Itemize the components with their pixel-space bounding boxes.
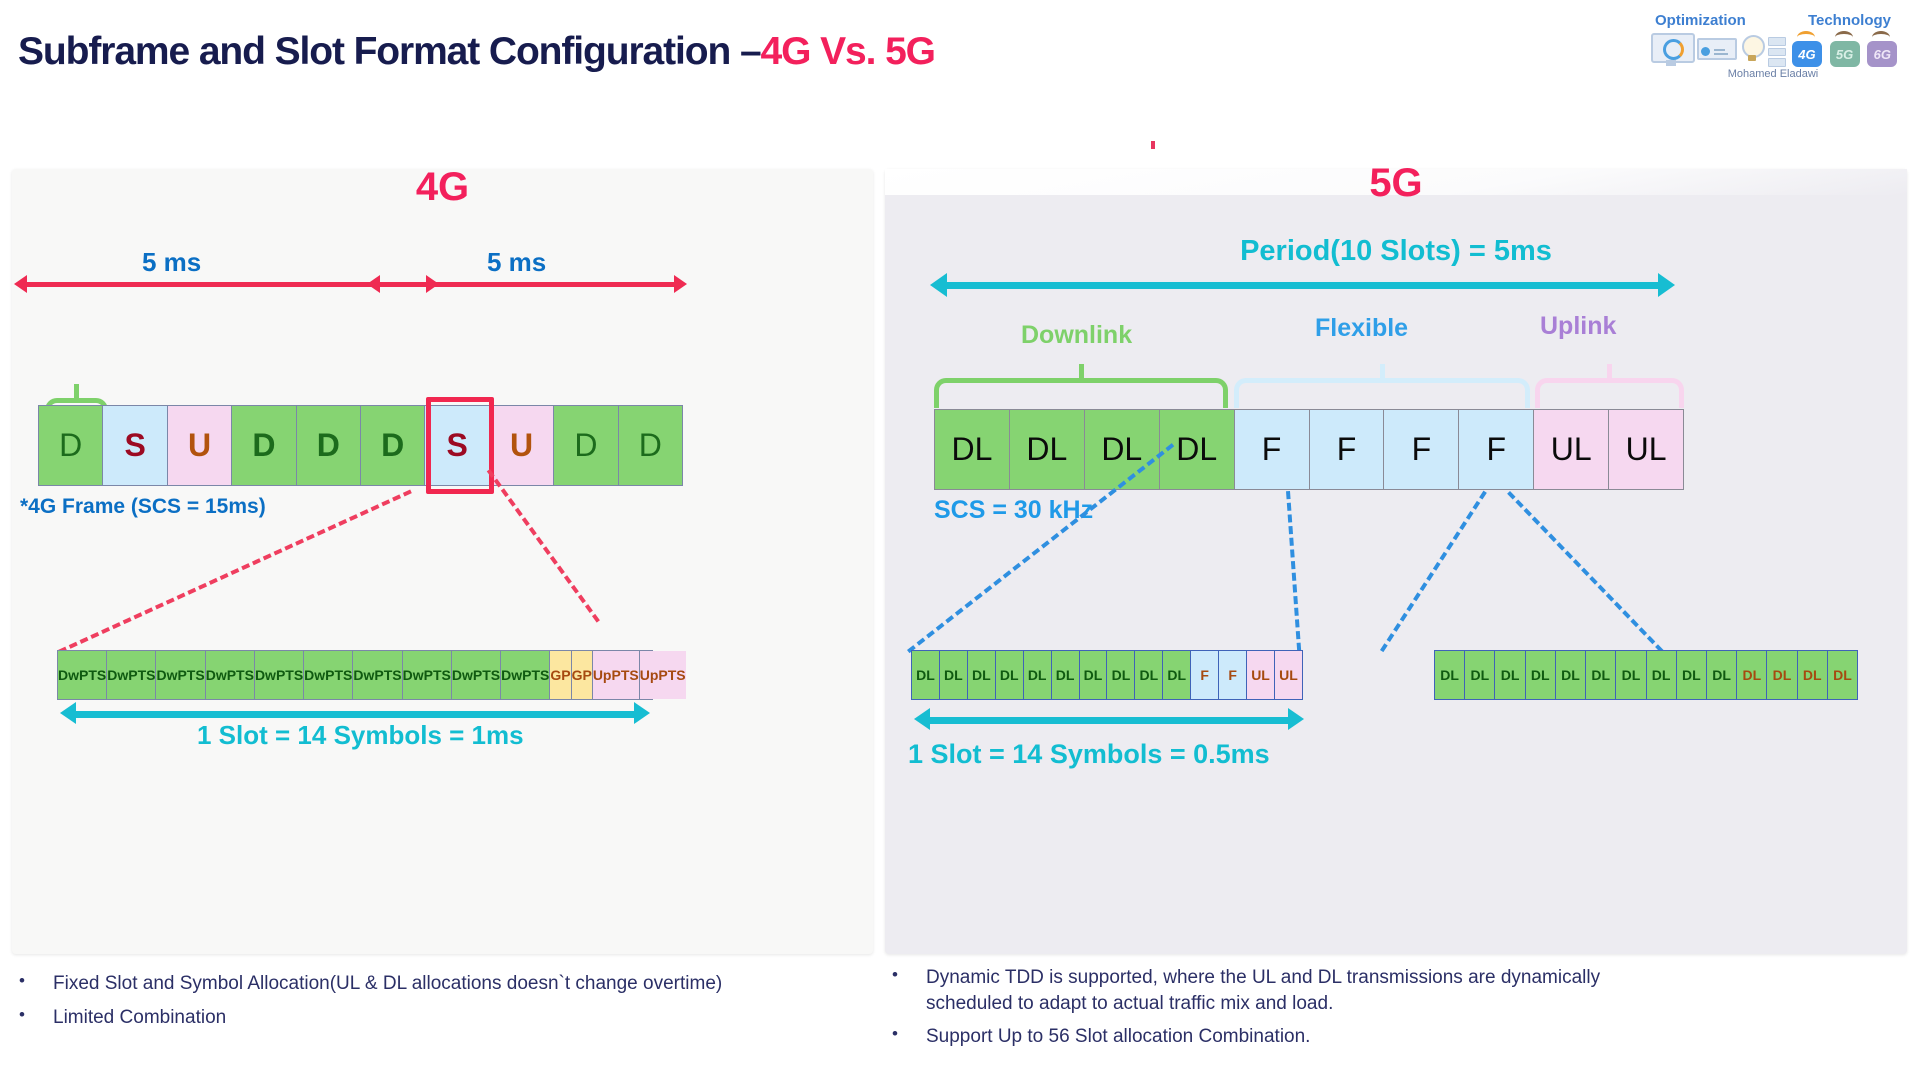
symbol-label: UpPTS <box>593 667 639 683</box>
slot-cell[interactable]: DL <box>1085 410 1160 489</box>
symbol-label: DL <box>1773 667 1792 683</box>
bullet-item: •Dynamic TDD is supported, where the UL … <box>885 965 1900 1016</box>
symbol-cell[interactable]: DwPTS <box>107 651 156 699</box>
panel-5g-title: 5G <box>885 161 1907 206</box>
symbol-label: DwPTS <box>353 667 401 683</box>
slot-label: F <box>1337 431 1357 468</box>
symbol-cell[interactable]: DwPTS <box>501 651 550 699</box>
brace-flexible <box>1234 378 1530 408</box>
symbol-label: DL <box>1622 667 1641 683</box>
symbol-label: DwPTS <box>58 667 106 683</box>
symbol-cell[interactable]: DL <box>940 651 968 699</box>
symbol-label: UpPTS <box>640 667 686 683</box>
label-flexible: Flexible <box>1315 314 1408 343</box>
caption-4g-frame: *4G Frame (SCS = 15ms) <box>20 495 266 519</box>
page-title-main: Subframe and Slot Format Configuration – <box>18 30 761 73</box>
symbol-label: DwPTS <box>156 667 204 683</box>
symbol-label: DL <box>1833 667 1852 683</box>
symbol-cell[interactable]: DL <box>996 651 1024 699</box>
symbol-cell[interactable]: DL <box>1526 651 1556 699</box>
symbol-label: DwPTS <box>403 667 451 683</box>
subframe-label: D <box>381 427 404 464</box>
subframe-cell[interactable]: S <box>103 406 167 485</box>
symbol-label: DL <box>1112 667 1131 683</box>
symbol-cell[interactable]: DwPTS <box>304 651 353 699</box>
symbol-cell[interactable]: DwPTS <box>58 651 107 699</box>
arrow-slot-5g <box>914 717 1304 724</box>
caption-scs-5g: SCS = 30 kHz <box>934 496 1093 525</box>
subframe-row-4g: D S U D D D S U D D <box>38 405 683 486</box>
badge-6g-icon: 6G <box>1865 31 1899 67</box>
subframe-label: U <box>510 427 533 464</box>
symbol-label: DL <box>1652 667 1671 683</box>
bullet-marker: • <box>12 1005 53 1031</box>
symbol-cell[interactable]: DwPTS <box>206 651 255 699</box>
symbol-cell[interactable]: DL <box>1495 651 1525 699</box>
bullets-4g: •Fixed Slot and Symbol Allocation(UL & D… <box>12 971 872 1038</box>
server-stack-icon <box>1768 37 1786 67</box>
symbol-label: F <box>1200 667 1209 683</box>
slot-label: DL <box>1101 431 1142 468</box>
subframe-label: D <box>59 427 82 464</box>
bullet-marker: • <box>885 965 926 1016</box>
symbol-cell[interactable]: DL <box>1465 651 1495 699</box>
panel-4g-title: 4G <box>12 165 873 210</box>
slot-label: UL <box>1551 431 1592 468</box>
slot-label: F <box>1487 431 1507 468</box>
symbol-cell[interactable]: DL <box>1737 651 1767 699</box>
symbol-row-5g-left: DL DL DL DL DL DL DL DL DL DL F F UL UL <box>911 650 1303 700</box>
arrow-slot-4g <box>60 711 650 718</box>
arrow-5ms-right <box>367 282 687 287</box>
slide-root: Subframe and Slot Format Configuration –… <box>0 0 1919 1070</box>
symbol-cell[interactable]: DwPTS <box>452 651 501 699</box>
symbol-cell[interactable]: DL <box>1616 651 1646 699</box>
bullet-text: Fixed Slot and Symbol Allocation(UL & DL… <box>53 971 722 997</box>
symbol-label: DL <box>1000 667 1019 683</box>
symbol-label: DL <box>1591 667 1610 683</box>
subframe-cell[interactable]: D <box>232 406 296 485</box>
page-title: Subframe and Slot Format Configuration –… <box>18 30 935 74</box>
highlight-box-s-subframe <box>426 397 494 494</box>
caption-slot-5g: 1 Slot = 14 Symbols = 0.5ms <box>908 739 1270 770</box>
symbol-cell[interactable]: GP <box>550 651 571 699</box>
subframe-cell[interactable]: D <box>619 406 682 485</box>
symbol-label: DL <box>1682 667 1701 683</box>
brace-uplink <box>1535 378 1684 408</box>
symbol-cell[interactable]: GP <box>572 651 593 699</box>
slot-row-5g: DL DL DL DL F F F F UL UL <box>934 409 1684 490</box>
subframe-label: U <box>188 427 211 464</box>
subframe-label: D <box>317 427 340 464</box>
slot-label: DL <box>952 431 993 468</box>
slot-label: DL <box>1026 431 1067 468</box>
symbol-cell[interactable]: DL <box>1435 651 1465 699</box>
symbol-label: DL <box>916 667 935 683</box>
bullet-marker: • <box>885 1024 926 1050</box>
symbol-cell[interactable]: DL <box>1707 651 1737 699</box>
bullet-marker: • <box>12 971 53 997</box>
subframe-label: S <box>124 427 145 464</box>
bullet-item: •Support Up to 56 Slot allocation Combin… <box>885 1024 1900 1050</box>
panel-5g: 5G Period(10 Slots) = 5ms Downlink Flexi… <box>885 169 1907 954</box>
slot-cell[interactable]: UL <box>1534 410 1609 489</box>
label-downlink: Downlink <box>1021 321 1132 350</box>
symbol-cell[interactable]: DL <box>1052 651 1080 699</box>
symbol-cell[interactable]: UL <box>1247 651 1275 699</box>
subframe-label: D <box>574 427 597 464</box>
panel-4g: 4G 5 ms 5 ms D S U D D D S U D D <box>12 169 873 954</box>
symbol-row-5g-right: DL DL DL DL DL DL DL DL DL DL DL DL DL D… <box>1434 650 1858 700</box>
slot-cell[interactable]: DL <box>1160 410 1235 489</box>
symbol-label: DL <box>1084 667 1103 683</box>
symbol-cell[interactable]: DL <box>1556 651 1586 699</box>
symbol-label: DL <box>944 667 963 683</box>
symbol-cell[interactable]: UpPTS <box>593 651 640 699</box>
badge-5g-icon: 5G <box>1828 31 1862 67</box>
decorative-dot <box>1151 141 1155 149</box>
badge-5g-label: 5G <box>1830 41 1860 67</box>
symbol-cell[interactable]: DL <box>1163 651 1191 699</box>
symbol-label: DL <box>1028 667 1047 683</box>
symbol-label: DwPTS <box>452 667 500 683</box>
author-name: Mohamed Eladawi <box>1647 68 1899 80</box>
subframe-cell[interactable]: D <box>297 406 361 485</box>
lightbulb-icon <box>1740 35 1764 67</box>
slot-label: F <box>1262 431 1282 468</box>
brand-logo: Optimization Technology 4G 5G 6G Mohamed… <box>1647 12 1899 94</box>
symbol-label: DL <box>1167 667 1186 683</box>
slot-label: UL <box>1626 431 1667 468</box>
arrow-period-5g <box>930 282 1675 289</box>
symbol-label: UL <box>1279 667 1298 683</box>
slot-cell[interactable]: F <box>1235 410 1310 489</box>
symbol-cell[interactable]: F <box>1191 651 1219 699</box>
symbol-label: DL <box>1803 667 1822 683</box>
slot-cell[interactable]: F <box>1459 410 1534 489</box>
slot-cell[interactable]: UL <box>1609 410 1683 489</box>
bullets-5g: •Dynamic TDD is supported, where the UL … <box>885 965 1900 1058</box>
slot-label: DL <box>1176 431 1217 468</box>
symbol-label: DL <box>1742 667 1761 683</box>
symbol-label: DwPTS <box>501 667 549 683</box>
subframe-label: D <box>639 427 662 464</box>
symbol-label: DwPTS <box>107 667 155 683</box>
slot-cell[interactable]: F <box>1384 410 1459 489</box>
bullet-text: Dynamic TDD is supported, where the UL a… <box>926 965 1666 1016</box>
symbol-cell[interactable]: DwPTS <box>403 651 452 699</box>
brace-downlink <box>934 378 1228 408</box>
bullet-item: •Fixed Slot and Symbol Allocation(UL & D… <box>12 971 872 997</box>
slot-cell[interactable]: F <box>1310 410 1385 489</box>
symbol-label: F <box>1228 667 1237 683</box>
label-period-5g: Period(10 Slots) = 5ms <box>885 235 1907 268</box>
symbol-cell[interactable]: DL <box>1677 651 1707 699</box>
symbol-label: DwPTS <box>255 667 303 683</box>
logo-word-optimization: Optimization <box>1655 12 1746 29</box>
bullet-text: Support Up to 56 Slot allocation Combina… <box>926 1024 1310 1050</box>
logo-word-technology: Technology <box>1808 12 1891 29</box>
symbol-cell[interactable]: UL <box>1275 651 1302 699</box>
symbol-label: DL <box>1531 667 1550 683</box>
zoom-line-5g-b <box>1286 491 1301 651</box>
badge-6g-label: 6G <box>1867 41 1897 67</box>
zoom-line-5g-c <box>1380 491 1487 653</box>
zoom-line-right <box>487 469 600 623</box>
subframe-cell[interactable]: U <box>490 406 554 485</box>
symbol-cell[interactable]: DL <box>1647 651 1677 699</box>
badge-4g-label: 4G <box>1792 41 1822 67</box>
symbol-label: DL <box>1140 667 1159 683</box>
subframe-cell[interactable]: D <box>554 406 618 485</box>
symbol-label: DL <box>972 667 991 683</box>
caption-slot-4g: 1 Slot = 14 Symbols = 1ms <box>197 720 524 751</box>
symbol-cell[interactable]: DL <box>968 651 996 699</box>
subframe-cell[interactable]: U <box>168 406 232 485</box>
symbol-cell[interactable]: DwPTS <box>156 651 205 699</box>
monitor-refresh-icon <box>1651 33 1691 67</box>
slot-cell[interactable]: DL <box>935 410 1010 489</box>
symbol-label: DwPTS <box>206 667 254 683</box>
symbol-label: DL <box>1440 667 1459 683</box>
symbol-label: DL <box>1501 667 1520 683</box>
symbol-cell[interactable]: DL <box>1024 651 1052 699</box>
page-title-accent: 4G Vs. 5G <box>761 30 935 73</box>
symbol-label: GP <box>572 667 592 683</box>
symbol-label: GP <box>550 667 570 683</box>
subframe-cell[interactable]: D <box>361 406 425 485</box>
symbol-cell[interactable]: UpPTS <box>640 651 686 699</box>
symbol-cell[interactable]: DL <box>1586 651 1616 699</box>
symbol-cell[interactable]: DL <box>1135 651 1163 699</box>
dashboard-chart-icon <box>1695 33 1737 67</box>
symbol-cell[interactable]: DL <box>912 651 940 699</box>
badge-4g-icon: 4G <box>1790 31 1824 67</box>
label-5ms-right: 5 ms <box>487 247 546 278</box>
symbol-label: UL <box>1251 667 1270 683</box>
symbol-cell[interactable]: DL <box>1080 651 1108 699</box>
symbol-cell[interactable]: DL <box>1828 651 1857 699</box>
symbol-label: DL <box>1056 667 1075 683</box>
subframe-label: D <box>252 427 275 464</box>
symbol-cell[interactable]: DL <box>1767 651 1797 699</box>
slot-label: F <box>1412 431 1432 468</box>
symbol-cell[interactable]: F <box>1219 651 1247 699</box>
label-5ms-left: 5 ms <box>142 247 201 278</box>
symbol-row-4g: DwPTS DwPTS DwPTS DwPTS DwPTS DwPTS DwPT… <box>57 650 653 700</box>
symbol-label: DL <box>1561 667 1580 683</box>
symbol-label: DL <box>1470 667 1489 683</box>
symbol-label: DL <box>1712 667 1731 683</box>
symbol-cell[interactable]: DL <box>1107 651 1135 699</box>
slot-cell[interactable]: DL <box>1010 410 1085 489</box>
subframe-cell[interactable]: D <box>39 406 103 485</box>
bullet-item: •Limited Combination <box>12 1005 872 1031</box>
zoom-line-5g-d <box>1507 491 1663 653</box>
symbol-label: DwPTS <box>304 667 352 683</box>
symbol-cell[interactable]: DwPTS <box>353 651 402 699</box>
symbol-cell[interactable]: DwPTS <box>255 651 304 699</box>
symbol-cell[interactable]: DL <box>1798 651 1828 699</box>
label-uplink: Uplink <box>1540 312 1616 341</box>
bullet-text: Limited Combination <box>53 1005 226 1031</box>
